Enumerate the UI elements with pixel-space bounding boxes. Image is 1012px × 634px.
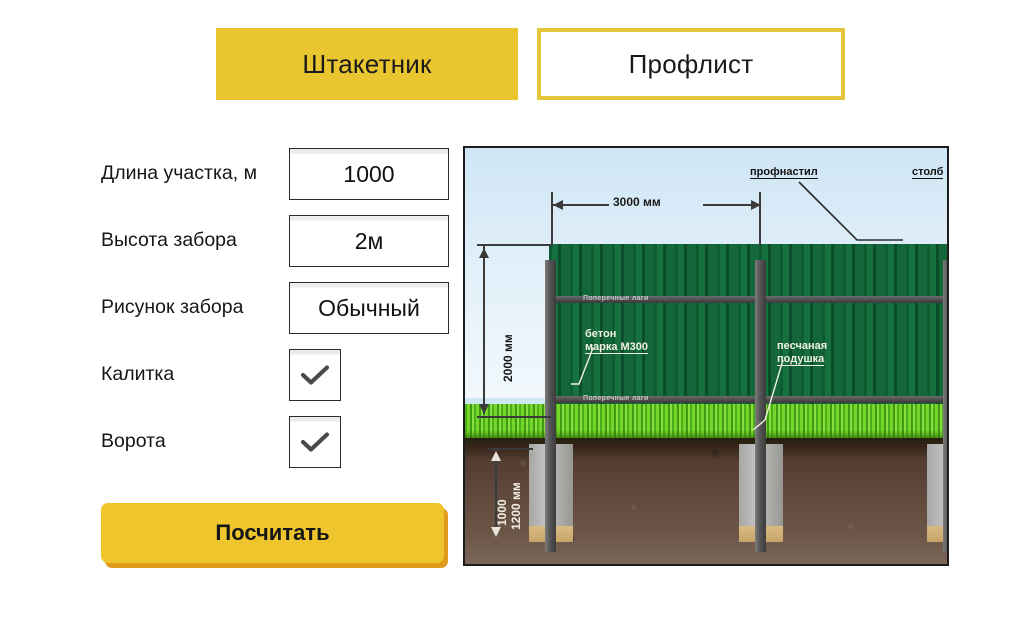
depth-label-1: 1000 xyxy=(495,499,509,526)
form-row-length: Длина участка, м 1000 xyxy=(101,148,451,200)
depth-label-2: 1200 мм xyxy=(509,482,523,530)
select-pattern[interactable]: Обычный xyxy=(289,282,449,334)
tab-bar: Штакетник Профлист xyxy=(216,28,845,100)
label-pattern: Рисунок забора xyxy=(101,297,289,318)
checkmark-icon xyxy=(300,430,330,454)
form-row-height: Высота забора 2м xyxy=(101,215,451,267)
leader-profnastil xyxy=(795,178,905,248)
fence-post xyxy=(943,260,949,552)
tab-shtaketnik[interactable]: Штакетник xyxy=(216,28,518,100)
label-gate: Ворота xyxy=(101,431,289,452)
callout-stolb: столб xyxy=(912,166,943,179)
callout-profnastil: профнастил xyxy=(750,166,818,179)
dim-width-label: 3000 мм xyxy=(613,195,661,209)
label-length: Длина участка, м xyxy=(101,163,289,184)
grass-strip xyxy=(465,404,947,442)
crossbar-top: Поперечные лаги xyxy=(549,296,947,303)
submit-area: Посчитать xyxy=(101,503,444,563)
leader-concrete xyxy=(565,344,595,424)
checkbox-wicket[interactable] xyxy=(289,349,341,401)
input-length[interactable]: 1000 xyxy=(289,148,449,200)
calculate-button[interactable]: Посчитать xyxy=(101,503,444,563)
checkmark-icon xyxy=(300,363,330,387)
crossbar-top-label: Поперечные лаги xyxy=(583,295,649,302)
calculator-form: Длина участка, м 1000 Высота забора 2м Р… xyxy=(101,148,451,483)
fence-diagram: Поперечные лаги Поперечные лаги 3000 мм … xyxy=(463,146,949,566)
form-row-wicket: Калитка xyxy=(101,349,451,401)
label-height: Высота забора xyxy=(101,230,289,251)
fence-post xyxy=(545,260,556,552)
depth-arrowheads xyxy=(488,448,504,540)
form-row-pattern: Рисунок забора Обычный xyxy=(101,282,451,334)
leader-sand xyxy=(751,356,785,436)
label-wicket: Калитка xyxy=(101,364,289,385)
checkbox-gate[interactable] xyxy=(289,416,341,468)
dim-height-label: 2000 мм xyxy=(501,334,515,382)
dim-arrowheads-height xyxy=(476,244,492,418)
tab-proflist[interactable]: Профлист xyxy=(537,28,845,100)
crossbar-bottom: Поперечные лаги xyxy=(549,396,947,403)
select-height[interactable]: 2м xyxy=(289,215,449,267)
form-row-gate: Ворота xyxy=(101,416,451,468)
